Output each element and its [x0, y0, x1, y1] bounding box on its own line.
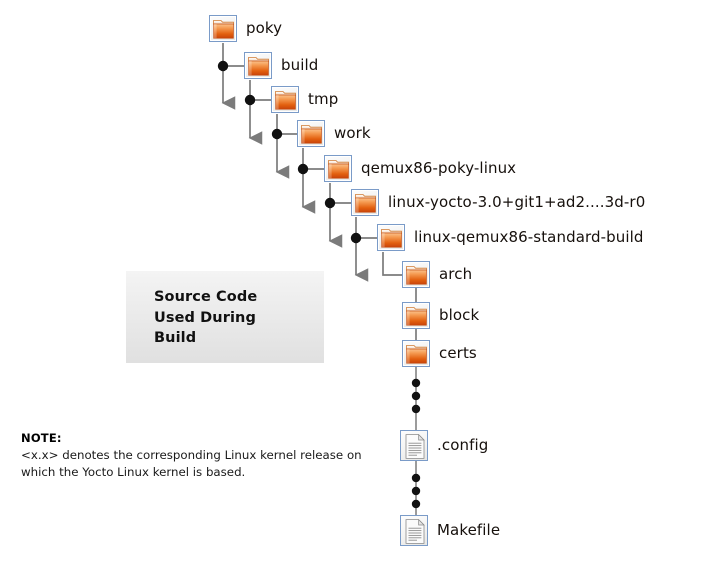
tree-node-dotconfig[interactable]: .config: [400, 430, 488, 461]
tree-node-linux-yocto[interactable]: linux-yocto-3.0+git1+ad2....3d-r0: [351, 189, 645, 216]
tree-node-label: linux-qemux86-standard-build: [414, 230, 644, 245]
callout-line-2: Used During: [154, 308, 324, 329]
folder-icon: [402, 340, 430, 367]
folder-icon: [377, 224, 405, 251]
tree-node-label: build: [281, 58, 318, 73]
file-icon: [400, 430, 428, 461]
tree-node-label: block: [439, 308, 479, 323]
callout-line-1: Source Code: [154, 287, 324, 308]
tree-node-qemux86-poky-linux[interactable]: qemux86-poky-linux: [324, 155, 516, 182]
tree-node-label: work: [334, 126, 371, 141]
folder-icon: [351, 189, 379, 216]
folder-icon: [271, 86, 299, 113]
tree-node-label: tmp: [308, 92, 338, 107]
folder-icon: [297, 120, 325, 147]
tree-node-label: certs: [439, 346, 477, 361]
folder-icon: [209, 15, 237, 42]
note-body: <x.x> denotes the corresponding Linux ke…: [21, 447, 381, 482]
tree-node-label: linux-yocto-3.0+git1+ad2....3d-r0: [388, 195, 645, 210]
note-block: NOTE: <x.x> denotes the corresponding Li…: [21, 431, 381, 481]
callout-line-3: Build: [154, 328, 324, 349]
tree-node-poky[interactable]: poky: [209, 15, 282, 42]
tree-node-block[interactable]: block: [402, 302, 479, 329]
source-code-callout: Source Code Used During Build: [126, 271, 324, 363]
tree-node-label: qemux86-poky-linux: [361, 161, 516, 176]
tree-node-work[interactable]: work: [297, 120, 371, 147]
connector-layer: [0, 0, 705, 581]
folder-icon: [244, 52, 272, 79]
tree-node-label: poky: [246, 21, 282, 36]
diagram-canvas: poky build tmp: [0, 0, 705, 581]
tree-node-build[interactable]: build: [244, 52, 318, 79]
note-heading: NOTE:: [21, 431, 381, 447]
tree-node-makefile[interactable]: Makefile: [400, 515, 500, 546]
tree-node-label: .config: [437, 438, 488, 453]
tree-node-label: arch: [439, 267, 472, 282]
folder-icon: [402, 261, 430, 288]
file-icon: [400, 515, 428, 546]
tree-node-certs[interactable]: certs: [402, 340, 477, 367]
folder-icon: [402, 302, 430, 329]
tree-node-linux-qemux86-standard-build[interactable]: linux-qemux86-standard-build: [377, 224, 644, 251]
tree-node-arch[interactable]: arch: [402, 261, 472, 288]
tree-node-tmp[interactable]: tmp: [271, 86, 338, 113]
folder-icon: [324, 155, 352, 182]
tree-node-label: Makefile: [437, 523, 500, 538]
